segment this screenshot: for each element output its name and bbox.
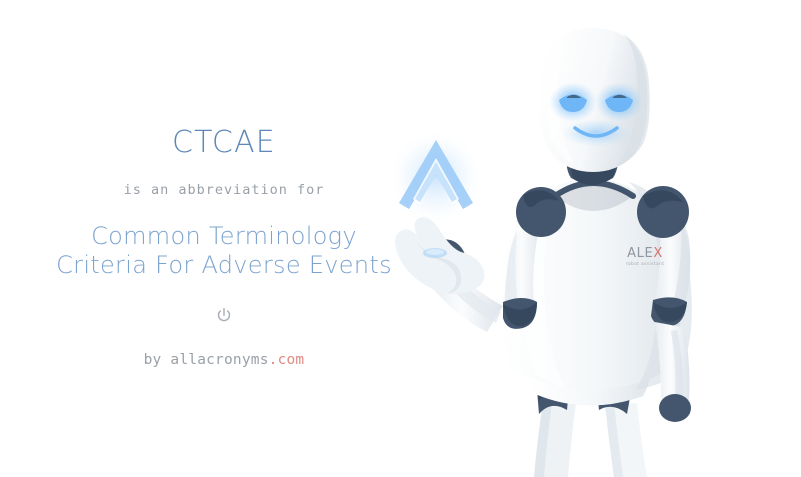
acronym-definition-card: CTCAE is an abbreviation for Common Term…	[0, 0, 801, 477]
abbreviation-connector-text: is an abbreviation for	[124, 182, 325, 198]
definition-text-column: CTCAE is an abbreviation for Common Term…	[0, 0, 448, 477]
robot-assistant-illustration: ALEX robot assistant	[391, 0, 801, 477]
page-title-acronym: CTCAE	[172, 128, 276, 158]
expansion-line-2: Criteria For Adverse Events	[56, 251, 392, 280]
power-standby-icon	[214, 306, 234, 326]
byline-site-name: allacronyms	[170, 352, 268, 368]
expansion-line-1: Common Terminology	[56, 222, 392, 251]
byline-attribution: by allacronyms.com	[144, 352, 305, 368]
acronym-expansion: Common Terminology Criteria For Adverse …	[56, 222, 392, 280]
robot-figure-svg	[391, 0, 801, 477]
byline-tld: .com	[269, 352, 305, 368]
byline-prefix: by	[144, 352, 171, 368]
